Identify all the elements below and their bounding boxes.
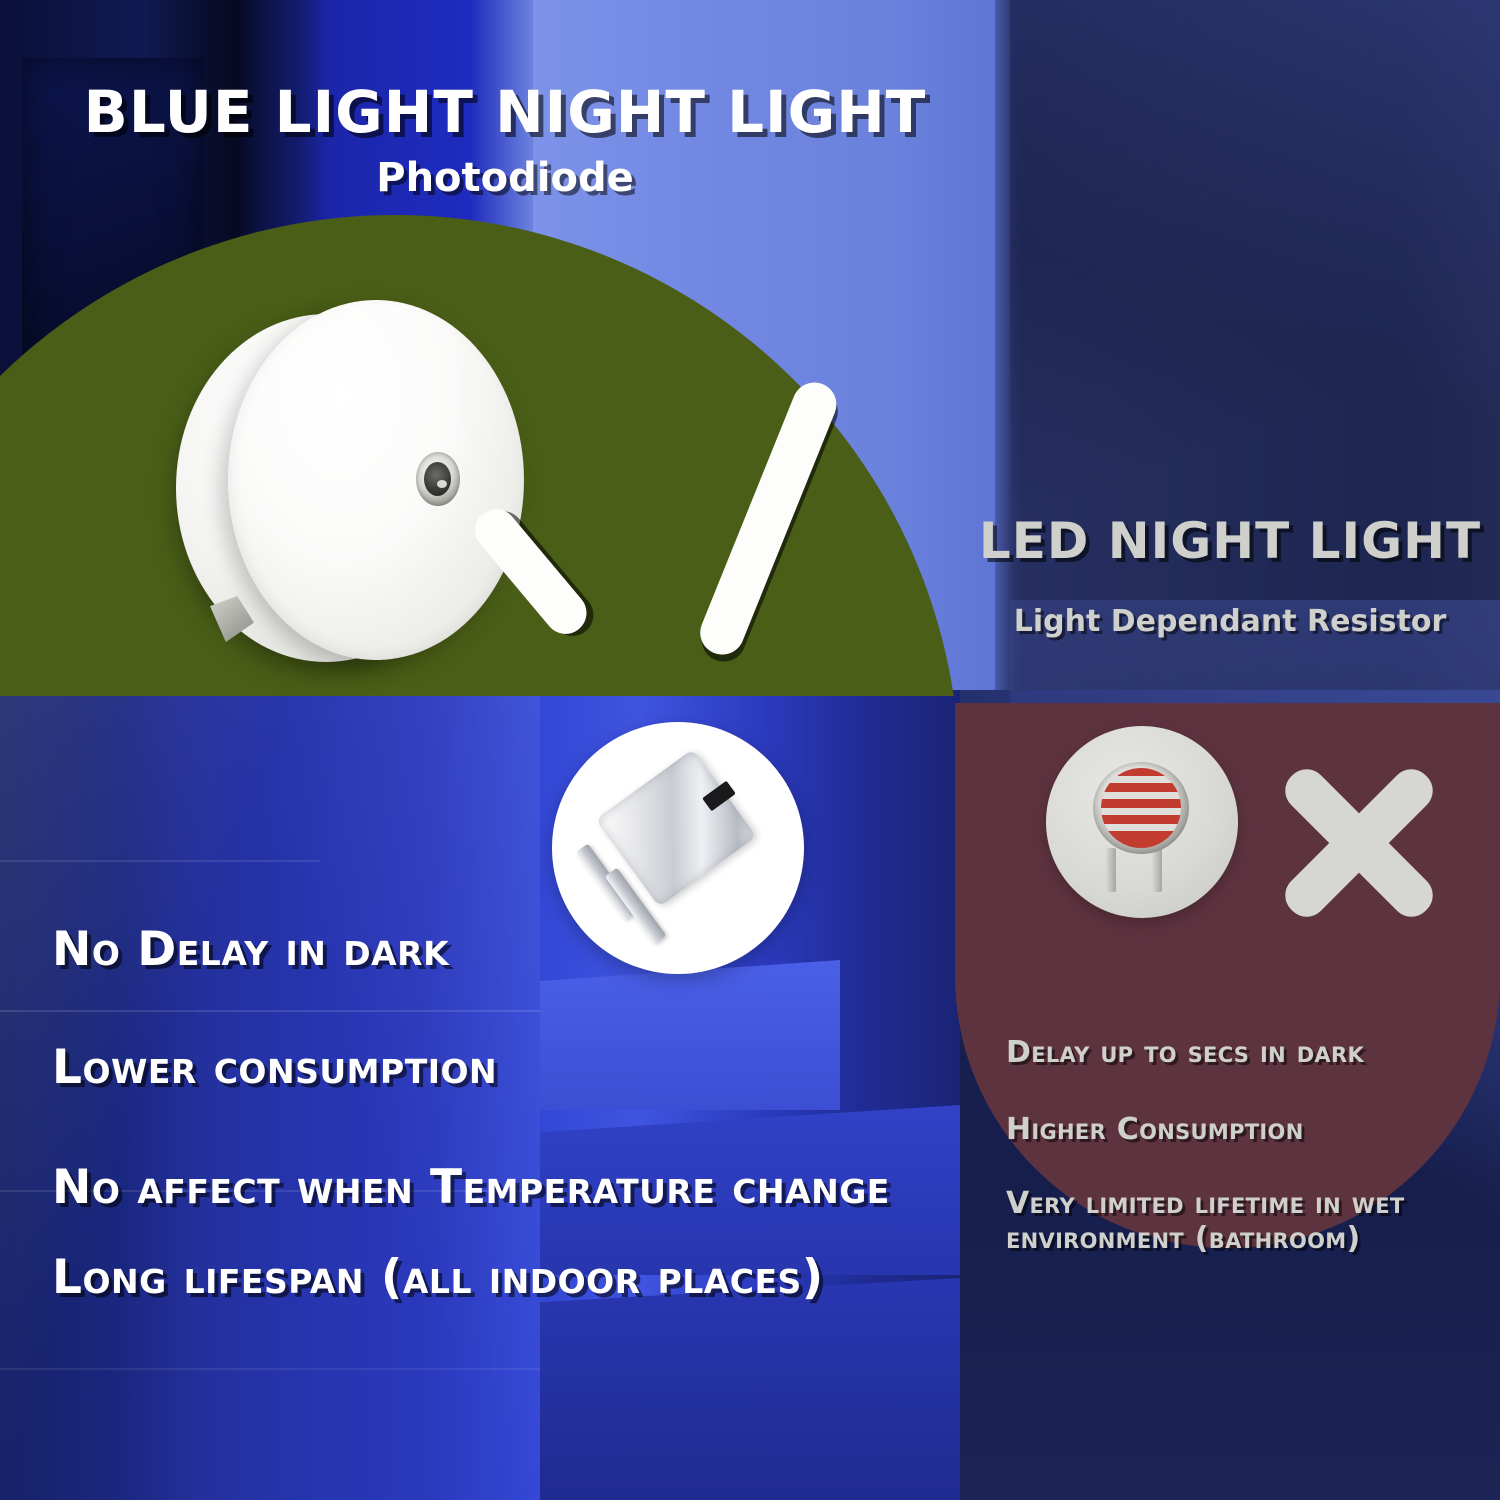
left-panel-subtitle: Photodiode — [0, 155, 1010, 201]
right-panel-title: LED NIGHT LIGHT — [960, 512, 1500, 570]
left-feature-item: No affect when Temperature change — [52, 1163, 890, 1212]
right-feature-item: Higher Consumption — [1006, 1112, 1476, 1147]
left-feature-item: No Delay in dark — [52, 925, 449, 974]
stair-step — [540, 960, 840, 1110]
right-feature-item: Delay up to secs in dark — [1006, 1035, 1476, 1070]
stair-edge — [0, 1010, 540, 1012]
right-feature-item: Very limited lifetime in wet environment… — [1006, 1186, 1476, 1257]
infographic-canvas: BLUE LIGHT NIGHT LIGHT Photodiode LED NI… — [0, 0, 1500, 1500]
left-panel-title: BLUE LIGHT NIGHT LIGHT — [0, 78, 1010, 146]
round-night-light-icon — [176, 300, 526, 680]
ldr-face — [1101, 768, 1181, 848]
ldr-body — [1093, 762, 1189, 854]
background-floor-sheen — [0, 690, 540, 1500]
photodiode-glint — [437, 480, 447, 488]
ldr-leg — [1152, 848, 1162, 892]
left-feature-item: Long lifespan (all indoor places) — [52, 1253, 824, 1302]
right-panel-subtitle: Light Dependant Resistor — [960, 604, 1500, 639]
stair-edge — [0, 860, 320, 862]
ldr-leg — [1106, 848, 1116, 892]
photodiode-sensor-icon — [416, 452, 460, 506]
x-icon — [1272, 754, 1448, 930]
stair-edge — [0, 1368, 540, 1370]
photodiode-lens — [424, 462, 451, 496]
night-light-front-lens — [228, 300, 524, 660]
eu-plug-icon — [552, 722, 804, 974]
left-feature-item: Lower consumption — [52, 1043, 497, 1092]
check-icon — [540, 375, 815, 655]
ldr-sensor-icon — [1046, 726, 1238, 918]
